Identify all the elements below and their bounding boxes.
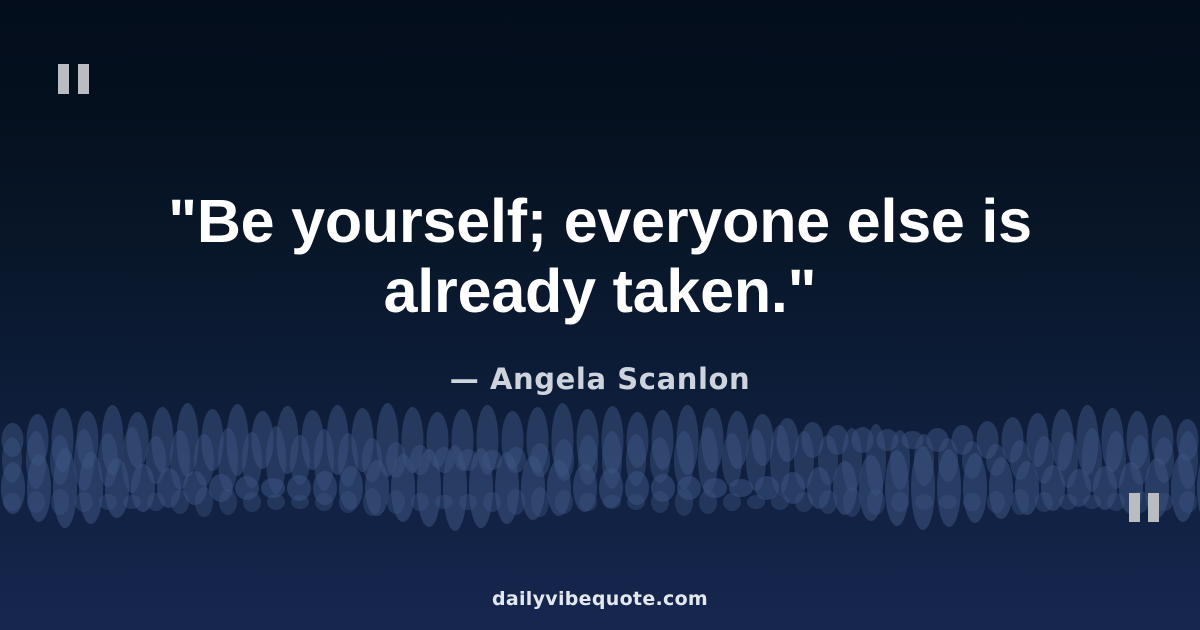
quote-attribution: — Angela Scanlon — [60, 362, 1140, 396]
quote-mark-icon — [58, 64, 89, 94]
quote-mark-icon — [1129, 493, 1159, 522]
footer-website-url: dailyvibequote.com — [0, 588, 1200, 610]
quote-bar-left — [1129, 493, 1140, 522]
quote-bar-right — [1148, 493, 1159, 522]
quote-bar-left — [58, 64, 69, 94]
quote-bar-right — [78, 64, 89, 94]
quote-text: "Be yourself; everyone else is already t… — [60, 186, 1140, 326]
quote-card: "Be yourself; everyone else is already t… — [0, 0, 1200, 630]
